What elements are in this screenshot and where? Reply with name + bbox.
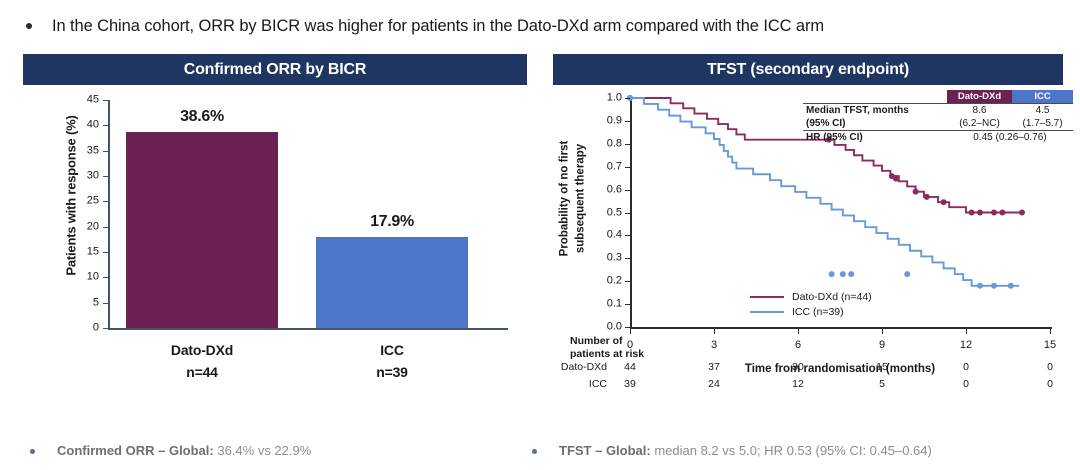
- km-censor-marker: [969, 210, 975, 216]
- km-y-tick: [625, 213, 630, 214]
- legend-label-dato: Dato-DXd (n=44): [792, 291, 872, 303]
- km-censor-marker: [991, 210, 997, 216]
- km-y-tick-label: 0.3: [607, 253, 622, 264]
- km-y-tick-label: 0.8: [607, 138, 622, 149]
- km-y-tick: [625, 121, 630, 122]
- km-y-axis-label-line: Probability of no first: [557, 99, 573, 299]
- risk-table-row: Dato-DXd4437301500: [570, 361, 1080, 378]
- risk-row-value: 15: [876, 361, 888, 373]
- km-censor-marker: [913, 189, 919, 195]
- km-censor-marker: [1008, 283, 1014, 289]
- km-legend-item: Dato-DXd (n=44): [750, 289, 872, 304]
- stats-row-label: Median TFST, months: [803, 104, 947, 118]
- risk-row-value: 39: [624, 378, 636, 390]
- orr-bar-chart: Patients with response (%) 0510152025303…: [23, 92, 533, 392]
- stats-table-header-row: Dato-DXd ICC: [803, 90, 1073, 104]
- stats-row-dato: 8.6: [947, 104, 1012, 118]
- bar-chart-y-tick-label: 45: [87, 95, 99, 106]
- bar-category-label: ICC: [312, 340, 472, 362]
- footnote-tfst-label: TFST – Global:: [559, 443, 651, 458]
- km-y-tick: [625, 235, 630, 236]
- risk-table-row: ICC392412500: [570, 378, 1080, 395]
- number-at-risk-table: Number of patients at risk Dato-DXd44373…: [570, 335, 1080, 395]
- km-censor-marker: [977, 283, 983, 289]
- bar-chart-y-tick: [103, 100, 108, 101]
- bar-chart-y-tick-label: 15: [87, 247, 99, 258]
- km-censor-marker: [904, 271, 910, 277]
- bullet-icon: [26, 23, 32, 29]
- km-censor-marker: [941, 199, 947, 205]
- bar-chart-y-tick-label: 25: [87, 196, 99, 207]
- risk-title-line1: Number of: [570, 335, 1080, 348]
- km-censor-marker: [999, 210, 1005, 216]
- km-y-tick-label: 1.0: [607, 93, 622, 104]
- bar-chart-x-axis: [108, 328, 508, 330]
- km-y-tick-label: 0.0: [607, 322, 622, 333]
- km-censor-marker: [1019, 210, 1025, 216]
- footnote-orr-value: 36.4% vs 22.9%: [214, 443, 312, 458]
- bar-chart-y-tick-label: 10: [87, 272, 99, 283]
- stats-row-icc: (1.7–5.7): [1012, 117, 1073, 131]
- km-y-axis-label: Probability of no firstsubsequent therap…: [557, 99, 588, 299]
- risk-row-value: 5: [879, 378, 885, 390]
- risk-row-value: 30: [792, 361, 804, 373]
- km-y-tick-label: 0.5: [607, 207, 622, 218]
- km-y-tick-label: 0.1: [607, 299, 622, 310]
- bar-icc: [316, 237, 468, 328]
- km-legend-item: ICC (n=39): [750, 304, 872, 319]
- tfst-stats-table: Dato-DXd ICC Median TFST, months 8.6 4.5…: [803, 90, 1073, 144]
- bar-category-group: ICCn=39: [312, 340, 472, 383]
- bar-category-n: n=44: [122, 362, 282, 384]
- right-panel-title: TFST (secondary endpoint): [553, 54, 1063, 85]
- risk-row-value: 0: [963, 378, 969, 390]
- bullet-icon: [30, 449, 35, 454]
- bar-chart-y-tick-label: 0: [93, 323, 99, 334]
- km-censor-marker: [848, 271, 854, 277]
- km-y-tick: [625, 98, 630, 99]
- stats-header-blank: [803, 90, 947, 104]
- km-y-tick-label: 0.2: [607, 276, 622, 287]
- risk-row-label: ICC: [517, 378, 607, 390]
- tfst-km-chart: Probability of no firstsubsequent therap…: [525, 88, 1080, 433]
- km-y-tick: [625, 167, 630, 168]
- km-censor-marker: [829, 271, 835, 277]
- bar-chart-y-tick: [103, 252, 108, 253]
- bar-dato-dxd: [126, 132, 278, 328]
- risk-row-value: 0: [1047, 361, 1053, 373]
- table-row: Median TFST, months 8.6 4.5: [803, 104, 1073, 118]
- bar-chart-y-axis: [108, 100, 110, 328]
- footnote-tfst: TFST – Global: median 8.2 vs 5.0; HR 0.5…: [532, 443, 932, 458]
- legend-label-icc: ICC (n=39): [792, 306, 844, 318]
- bar-chart-y-tick-label: 20: [87, 221, 99, 232]
- stats-header-dato: Dato-DXd: [947, 90, 1012, 104]
- risk-row-value: 37: [708, 361, 720, 373]
- risk-row-value: 24: [708, 378, 720, 390]
- footnote-orr: Confirmed ORR – Global: 36.4% vs 22.9%: [30, 443, 311, 458]
- stats-row-icc: 4.5: [1012, 104, 1073, 118]
- legend-swatch-dato-icon: [750, 296, 784, 298]
- bar-chart-y-axis-label: Patients with response (%): [64, 101, 79, 291]
- bar-chart-y-tick-label: 40: [87, 120, 99, 131]
- km-y-axis-label-line: subsequent therapy: [573, 99, 589, 299]
- risk-row-label: Dato-DXd: [517, 361, 607, 373]
- stats-header-icc: ICC: [1012, 90, 1073, 104]
- km-y-tick: [625, 258, 630, 259]
- bar-chart-y-tick: [103, 328, 108, 329]
- km-x-axis: [630, 327, 1052, 329]
- km-y-tick-label: 0.6: [607, 184, 622, 195]
- bar-value-label: 38.6%: [142, 108, 262, 126]
- km-x-tick: [714, 328, 715, 334]
- km-x-tick: [1050, 328, 1051, 334]
- stats-hr-label: HR (95% CI): [803, 131, 947, 145]
- bar-category-label: Dato-DXd: [122, 340, 282, 362]
- risk-row-value: 44: [624, 361, 636, 373]
- km-y-tick: [625, 281, 630, 282]
- table-row: (95% CI) (6.2–NC) (1.7–5.7): [803, 117, 1073, 131]
- bar-chart-y-tick-label: 30: [87, 171, 99, 182]
- km-legend: Dato-DXd (n=44) ICC (n=39): [750, 289, 872, 319]
- km-censor-marker: [977, 210, 983, 216]
- km-censor-marker: [840, 271, 846, 277]
- km-y-tick-label: 0.7: [607, 161, 622, 172]
- bar-value-label: 17.9%: [332, 213, 452, 231]
- bar-chart-y-tick: [103, 176, 108, 177]
- stats-row-label: (95% CI): [803, 117, 947, 131]
- km-censor-marker: [924, 194, 930, 200]
- legend-swatch-icc-icon: [750, 311, 784, 313]
- bar-category-n: n=39: [312, 362, 472, 384]
- left-panel-title: Confirmed ORR by BICR: [23, 54, 527, 85]
- km-censor-marker: [893, 176, 899, 182]
- risk-row-value: 0: [963, 361, 969, 373]
- bar-chart-y-tick-label: 5: [93, 297, 99, 308]
- risk-table-rows: Dato-DXd4437301500ICC392412500: [570, 361, 1080, 395]
- bar-chart-y-tick-label: 35: [87, 145, 99, 156]
- bar-chart-y-tick: [103, 303, 108, 304]
- risk-row-value: 12: [792, 378, 804, 390]
- km-x-tick: [966, 328, 967, 334]
- km-y-tick: [625, 144, 630, 145]
- bar-chart-y-tick: [103, 201, 108, 202]
- slide: In the China cohort, ORR by BICR was hig…: [0, 0, 1080, 470]
- footnote-tfst-value: median 8.2 vs 5.0; HR 0.53 (95% CI: 0.45…: [651, 443, 932, 458]
- km-censor-marker: [991, 283, 997, 289]
- km-y-tick: [625, 190, 630, 191]
- bar-chart-y-tick: [103, 227, 108, 228]
- km-x-tick: [798, 328, 799, 334]
- risk-row-value: 0: [1047, 378, 1053, 390]
- risk-table-title: Number of patients at risk: [570, 335, 1080, 361]
- bar-chart-y-tick: [103, 277, 108, 278]
- table-row: HR (95% CI) 0.45 (0.26–0.76): [803, 131, 1073, 145]
- bullet-icon: [532, 449, 537, 454]
- bar-chart-y-tick: [103, 151, 108, 152]
- km-x-tick: [882, 328, 883, 334]
- headline: In the China cohort, ORR by BICR was hig…: [0, 8, 1080, 44]
- footnote-orr-label: Confirmed ORR – Global:: [57, 443, 214, 458]
- stats-row-dato: (6.2–NC): [947, 117, 1012, 131]
- km-y-tick: [625, 304, 630, 305]
- km-y-tick-label: 0.4: [607, 230, 622, 241]
- km-x-tick: [630, 328, 631, 334]
- bar-category-group: Dato-DXdn=44: [122, 340, 282, 383]
- risk-title-line2: patients at risk: [570, 348, 1080, 361]
- headline-text: In the China cohort, ORR by BICR was hig…: [52, 17, 824, 36]
- km-y-tick-label: 0.9: [607, 115, 622, 126]
- bar-chart-plot-area: 05101520253035404538.6%Dato-DXdn=4417.9%…: [108, 100, 508, 328]
- stats-hr-value: 0.45 (0.26–0.76): [947, 131, 1073, 145]
- bar-chart-y-tick: [103, 125, 108, 126]
